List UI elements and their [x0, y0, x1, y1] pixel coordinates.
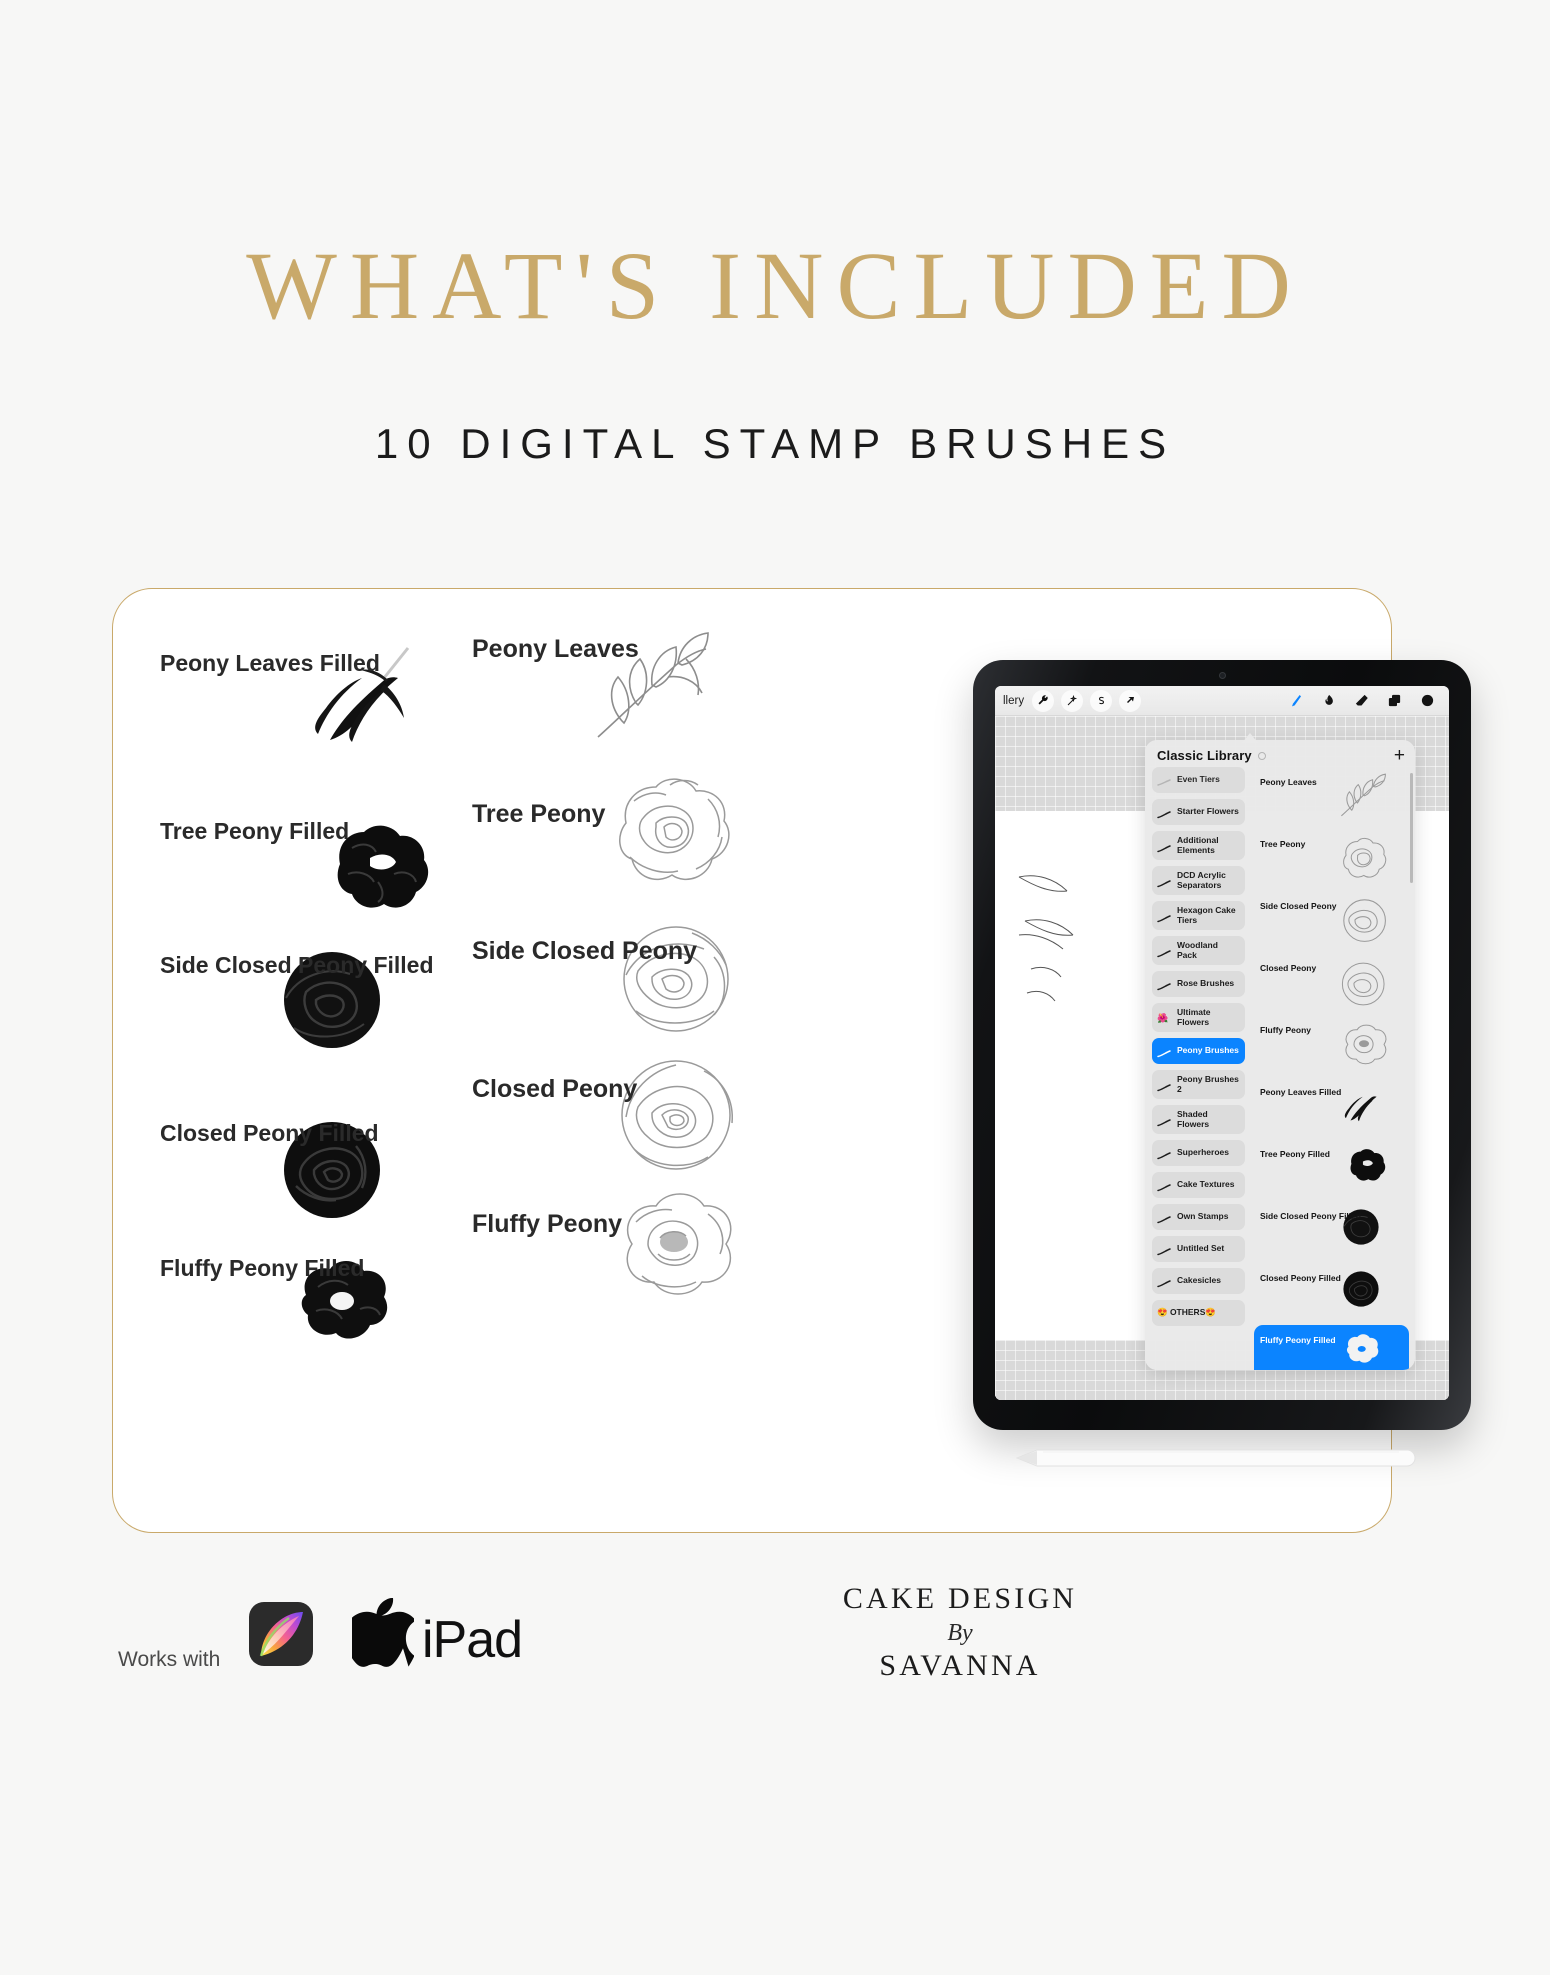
brush-set-item[interactable]: Even Tiers: [1152, 767, 1245, 793]
fluffy-peony-outline-stamp: [604, 1178, 744, 1318]
tree-peony-outline-thumb: [1335, 833, 1391, 892]
brush-stroke-icon: [1157, 1244, 1171, 1254]
brush-item-label: Side Closed Peony: [1260, 901, 1337, 911]
brush-stroke-icon: [1157, 946, 1171, 956]
ipad-mockup: llery: [965, 660, 1505, 1460]
layers-icon[interactable]: [1384, 691, 1404, 711]
brush-set-label: Untitled Set: [1177, 1244, 1224, 1254]
brush-stroke-icon: [1157, 1115, 1171, 1125]
library-status-dot-icon: [1258, 752, 1266, 760]
brush-item[interactable]: Tree Peony Filled: [1254, 1139, 1409, 1201]
fluffy-peony-filled-thumb: [1339, 1329, 1383, 1370]
leaves-outline-thumb: [1335, 771, 1391, 828]
brush-stroke-icon: [1157, 1212, 1171, 1222]
toolbar-right-group: [1285, 691, 1441, 711]
eraser-icon[interactable]: [1351, 691, 1371, 711]
gallery-button[interactable]: llery: [1003, 695, 1024, 707]
brand-signature: CAKE DESIGN By SAVANNA: [800, 1582, 1120, 1683]
brush-set-label: 😍 OTHERS😍: [1157, 1308, 1216, 1318]
brush-label: Peony Leaves: [472, 635, 639, 664]
brush-set-item[interactable]: Starter Flowers: [1152, 799, 1245, 825]
brush-item-label: Tree Peony: [1260, 839, 1305, 849]
side-closed-peony-outline-stamp: [612, 915, 742, 1045]
paintbrush-icon[interactable]: [1285, 691, 1305, 711]
ipad-wordmark: iPad: [422, 1614, 522, 1666]
brush-set-item-peony-brushes[interactable]: Peony Brushes: [1152, 1038, 1245, 1064]
ipad-camera-icon: [1219, 672, 1226, 679]
brush-set-list[interactable]: Even Tiers Starter Flowers Additional El…: [1145, 767, 1250, 1363]
brush-stroke-icon: [1157, 1046, 1171, 1056]
brush-set-item[interactable]: Own Stamps: [1152, 1204, 1245, 1230]
brush-set-item[interactable]: Peony Brushes 2: [1152, 1070, 1245, 1099]
add-brush-set-button[interactable]: +: [1394, 750, 1405, 762]
brush-label: Side Closed Peony: [472, 937, 697, 966]
brush-label: Closed Peony Filled: [160, 1120, 379, 1147]
color-swatch-icon[interactable]: [1417, 691, 1437, 711]
brush-item[interactable]: Tree Peony: [1254, 829, 1409, 891]
brush-stroke-icon: [1157, 1080, 1171, 1090]
brush-library-panel: Classic Library + Even Tiers: [1145, 740, 1415, 1370]
brush-library-title: Classic Library: [1157, 748, 1252, 763]
brush-item[interactable]: Closed Peony Filled: [1254, 1263, 1409, 1325]
brush-item-label: Tree Peony Filled: [1260, 1149, 1330, 1159]
leaves-filled-thumb: [1339, 1081, 1385, 1132]
ipad-screen: llery: [995, 686, 1449, 1400]
brush-set-label: Rose Brushes: [1177, 979, 1234, 989]
brush-set-label: Peony Brushes 2: [1177, 1075, 1240, 1094]
brush-label: Fluffy Peony: [472, 1210, 622, 1239]
procreate-canvas[interactable]: Classic Library + Even Tiers: [995, 716, 1449, 1400]
brush-item-label: Closed Peony Filled: [1260, 1273, 1341, 1283]
brush-stroke-icon: [1157, 1180, 1171, 1190]
brush-item-fluffy-peony-filled[interactable]: Fluffy Peony Filled: [1254, 1325, 1409, 1370]
tree-peony-outline-stamp: [600, 765, 740, 905]
brand-line-2: By: [800, 1620, 1120, 1647]
brush-set-item[interactable]: DCD Acrylic Separators: [1152, 866, 1245, 895]
brush-set-label: Shaded Flowers: [1177, 1110, 1240, 1129]
brush-set-label: Superheroes: [1177, 1148, 1229, 1158]
brush-item-label: Peony Leaves Filled: [1260, 1087, 1341, 1097]
brush-set-label: Hexagon Cake Tiers: [1177, 906, 1240, 925]
brand-line-1: CAKE DESIGN: [800, 1582, 1120, 1616]
brush-item-label: Side Closed Peony Filled: [1260, 1211, 1361, 1221]
closed-peony-outline-thumb: [1337, 957, 1391, 1016]
brush-stroke-icon: [1157, 911, 1171, 921]
page-subtitle: 10 DIGITAL STAMP BRUSHES: [0, 420, 1550, 468]
brush-item[interactable]: Closed Peony: [1254, 953, 1409, 1015]
brush-item[interactable]: Fluffy Peony: [1254, 1015, 1409, 1077]
brush-label: Fluffy Peony Filled: [160, 1255, 364, 1282]
brush-stroke-icon: [1157, 1148, 1171, 1158]
brush-set-item[interactable]: Additional Elements: [1152, 831, 1245, 860]
page-title: WHAT'S INCLUDED: [0, 238, 1550, 334]
works-with-label: Works with: [118, 1648, 220, 1672]
canvas-sketch: [1015, 861, 1125, 1026]
brush-item[interactable]: Side Closed Peony Filled: [1254, 1201, 1409, 1263]
wrench-icon[interactable]: [1032, 690, 1054, 712]
brush-set-item[interactable]: Woodland Pack: [1152, 936, 1245, 965]
brush-label: Side Closed Peony Filled: [160, 952, 434, 979]
brush-label: Closed Peony: [472, 1075, 637, 1104]
brush-stroke-icon: [1157, 807, 1171, 817]
apple-logo-icon: [352, 1598, 414, 1677]
brush-set-label: Own Stamps: [1177, 1212, 1228, 1222]
brush-set-item[interactable]: Cake Textures: [1152, 1172, 1245, 1198]
brush-set-label: Cake Textures: [1177, 1180, 1234, 1190]
brush-item-label: Fluffy Peony: [1260, 1025, 1311, 1035]
brush-stroke-icon: [1157, 979, 1171, 989]
procreate-logo-icon: [249, 1602, 313, 1666]
brush-set-item[interactable]: Hexagon Cake Tiers: [1152, 901, 1245, 930]
brush-item-label: Fluffy Peony Filled: [1260, 1335, 1336, 1345]
brush-item[interactable]: Peony Leaves Filled: [1254, 1077, 1409, 1139]
brush-set-item[interactable]: 🌺 Ultimate Flowers: [1152, 1003, 1245, 1032]
ipad-body: llery: [973, 660, 1471, 1430]
transform-arrow-icon[interactable]: [1119, 690, 1141, 712]
brush-set-item[interactable]: Cakesicles: [1152, 1268, 1245, 1294]
brush-label: Peony Leaves Filled: [160, 650, 380, 677]
side-closed-peony-outline-thumb: [1339, 895, 1391, 952]
brush-set-label: DCD Acrylic Separators: [1177, 871, 1240, 890]
brand-line-3: SAVANNA: [800, 1649, 1120, 1683]
brush-set-label: Woodland Pack: [1177, 941, 1240, 960]
brush-item[interactable]: Peony Leaves: [1254, 767, 1409, 829]
brush-item-label: Peony Leaves: [1260, 777, 1317, 787]
brush-set-label: Peony Brushes: [1177, 1046, 1239, 1056]
fluffy-peony-outline-thumb: [1337, 1019, 1391, 1078]
brush-set-item[interactable]: Rose Brushes: [1152, 971, 1245, 997]
brush-set-label: Additional Elements: [1177, 836, 1240, 855]
brush-stroke-icon: [1157, 841, 1171, 851]
brush-library-body: Even Tiers Starter Flowers Additional El…: [1145, 767, 1415, 1363]
brush-stroke-icon: [1157, 876, 1171, 886]
brush-list-scrollbar[interactable]: [1410, 773, 1413, 883]
flower-emoji-icon: 🌺: [1157, 1013, 1171, 1023]
closed-peony-outline-stamp: [608, 1045, 748, 1185]
smudge-icon[interactable]: [1318, 691, 1338, 711]
brush-set-item[interactable]: 😍 OTHERS😍: [1152, 1300, 1245, 1326]
brush-set-item[interactable]: Shaded Flowers: [1152, 1105, 1245, 1134]
brush-set-item[interactable]: Untitled Set: [1152, 1236, 1245, 1262]
procreate-toolbar: llery: [995, 686, 1449, 716]
brush-label: Tree Peony: [472, 800, 605, 829]
tree-peony-filled-thumb: [1343, 1143, 1389, 1192]
brush-set-label: Starter Flowers: [1177, 807, 1239, 817]
brush-set-label: Ultimate Flowers: [1177, 1008, 1240, 1027]
apple-pencil: [1007, 1444, 1427, 1470]
brush-stroke-icon: [1157, 1276, 1171, 1286]
brush-item-label: Closed Peony: [1260, 963, 1316, 973]
brush-list[interactable]: Peony Leaves Tree Peony: [1250, 767, 1415, 1363]
closed-peony-filled-thumb: [1339, 1267, 1383, 1316]
brush-label: Tree Peony Filled: [160, 818, 349, 845]
brush-set-label: Even Tiers: [1177, 775, 1220, 785]
brush-item[interactable]: Side Closed Peony: [1254, 891, 1409, 953]
poster-page: WHAT'S INCLUDED 10 DIGITAL STAMP BRUSHES…: [0, 0, 1550, 1975]
brush-stroke-icon: [1157, 775, 1171, 785]
selection-s-icon[interactable]: [1090, 690, 1112, 712]
brush-set-item[interactable]: Superheroes: [1152, 1140, 1245, 1166]
magic-wand-icon[interactable]: [1061, 690, 1083, 712]
brush-library-header: Classic Library +: [1145, 740, 1415, 767]
brush-set-label: Cakesicles: [1177, 1276, 1221, 1286]
